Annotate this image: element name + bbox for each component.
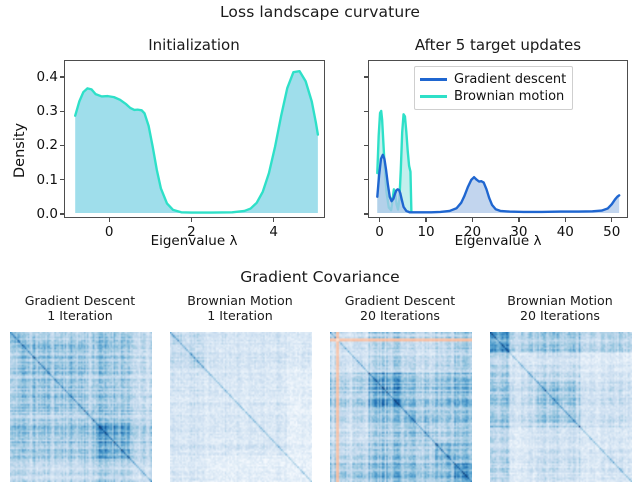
heatmap-title-line1: Brownian Motion xyxy=(486,294,634,309)
line-gradient-descent xyxy=(377,155,619,212)
heatmap-title-gd-1-iteration: Gradient Descent 1 Iteration xyxy=(6,294,154,324)
heatmap-title-line2: 1 Iteration xyxy=(6,309,154,324)
panel-title-initialization: Initialization xyxy=(44,36,344,54)
x-tick-label: 0 xyxy=(375,224,384,240)
y-tickmark xyxy=(364,111,368,112)
y-tickmark xyxy=(364,213,368,214)
x-tickmark xyxy=(565,218,566,222)
y-tick-label: 0.4 xyxy=(16,69,58,85)
x-tickmark xyxy=(379,218,380,222)
heatmap-title-bm-1-iteration: Brownian Motion 1 Iteration xyxy=(166,294,314,324)
y-tickmark xyxy=(60,145,64,146)
x-tick-label: 10 xyxy=(417,224,434,240)
heatmap-title-line2: 20 Iterations xyxy=(326,309,474,324)
y-tickmark xyxy=(364,179,368,180)
x-tick-label: 30 xyxy=(510,224,527,240)
y-tickmark xyxy=(364,76,368,77)
legend: Gradient descent Brownian motion xyxy=(414,66,573,110)
x-tick-label: 0 xyxy=(105,224,114,240)
area-fill-gradient-descent xyxy=(377,155,619,213)
area-fill-brownian-motion xyxy=(75,71,318,213)
y-tickmark xyxy=(364,145,368,146)
y-tick-label: 0.3 xyxy=(16,103,58,119)
density-plot-initialization xyxy=(64,60,325,218)
figure-canvas: Loss landscape curvature Initialization … xyxy=(0,0,640,488)
x-tickmark xyxy=(273,218,274,222)
density-plot-after-updates: Gradient descent Brownian motion xyxy=(368,60,628,218)
y-tick-label: 0.2 xyxy=(16,137,58,153)
x-tick-label: 40 xyxy=(557,224,574,240)
heatmap-bm-1-iteration xyxy=(170,332,312,482)
heatmap-title-line1: Gradient Descent xyxy=(326,294,474,309)
legend-item-gradient-descent: Gradient descent xyxy=(420,71,566,88)
x-tickmark xyxy=(191,218,192,222)
y-tick-label: 0.0 xyxy=(16,206,58,222)
x-tickmark xyxy=(472,218,473,222)
legend-swatch-brownian-motion xyxy=(420,95,447,98)
x-tickmark xyxy=(611,218,612,222)
heatmap-title-line2: 1 Iteration xyxy=(166,309,314,324)
heatmap-title-line1: Brownian Motion xyxy=(166,294,314,309)
heatmap-canvas xyxy=(10,332,152,482)
x-tickmark xyxy=(109,218,110,222)
heatmap-title-gd-20-iterations: Gradient Descent 20 Iterations xyxy=(326,294,474,324)
legend-item-brownian-motion: Brownian motion xyxy=(420,88,566,105)
x-tickmark xyxy=(425,218,426,222)
heatmap-title-bm-20-iterations: Brownian Motion 20 Iterations xyxy=(486,294,634,324)
initialization-curves xyxy=(65,61,324,217)
heatmap-canvas xyxy=(490,332,632,482)
heatmap-bm-20-iterations xyxy=(490,332,632,482)
section-title-gradient-covariance: Gradient Covariance xyxy=(0,268,640,286)
x-tick-label: 50 xyxy=(603,224,620,240)
y-tickmark xyxy=(60,76,64,77)
y-tickmark xyxy=(60,213,64,214)
x-axis-label-right: Eigenvalue λ xyxy=(438,233,558,249)
x-tick-label: 2 xyxy=(187,224,196,240)
heatmap-title-line1: Gradient Descent xyxy=(6,294,154,309)
panel-title-after-updates: After 5 target updates xyxy=(348,36,640,54)
heatmap-gd-20-iterations xyxy=(330,332,472,482)
heatmap-canvas xyxy=(330,332,472,482)
legend-label-gradient-descent: Gradient descent xyxy=(454,72,566,87)
x-tick-label: 4 xyxy=(269,224,278,240)
x-tickmark xyxy=(518,218,519,222)
x-tick-label: 20 xyxy=(464,224,481,240)
heatmap-title-line2: 20 Iterations xyxy=(486,309,634,324)
legend-label-brownian-motion: Brownian motion xyxy=(454,89,564,104)
heatmap-gd-1-iteration xyxy=(10,332,152,482)
figure-suptitle: Loss landscape curvature xyxy=(0,3,640,21)
y-tick-label: 0.1 xyxy=(16,172,58,188)
y-tickmark xyxy=(60,179,64,180)
legend-swatch-gradient-descent xyxy=(420,78,447,81)
y-tickmark xyxy=(60,111,64,112)
heatmap-canvas xyxy=(170,332,312,482)
